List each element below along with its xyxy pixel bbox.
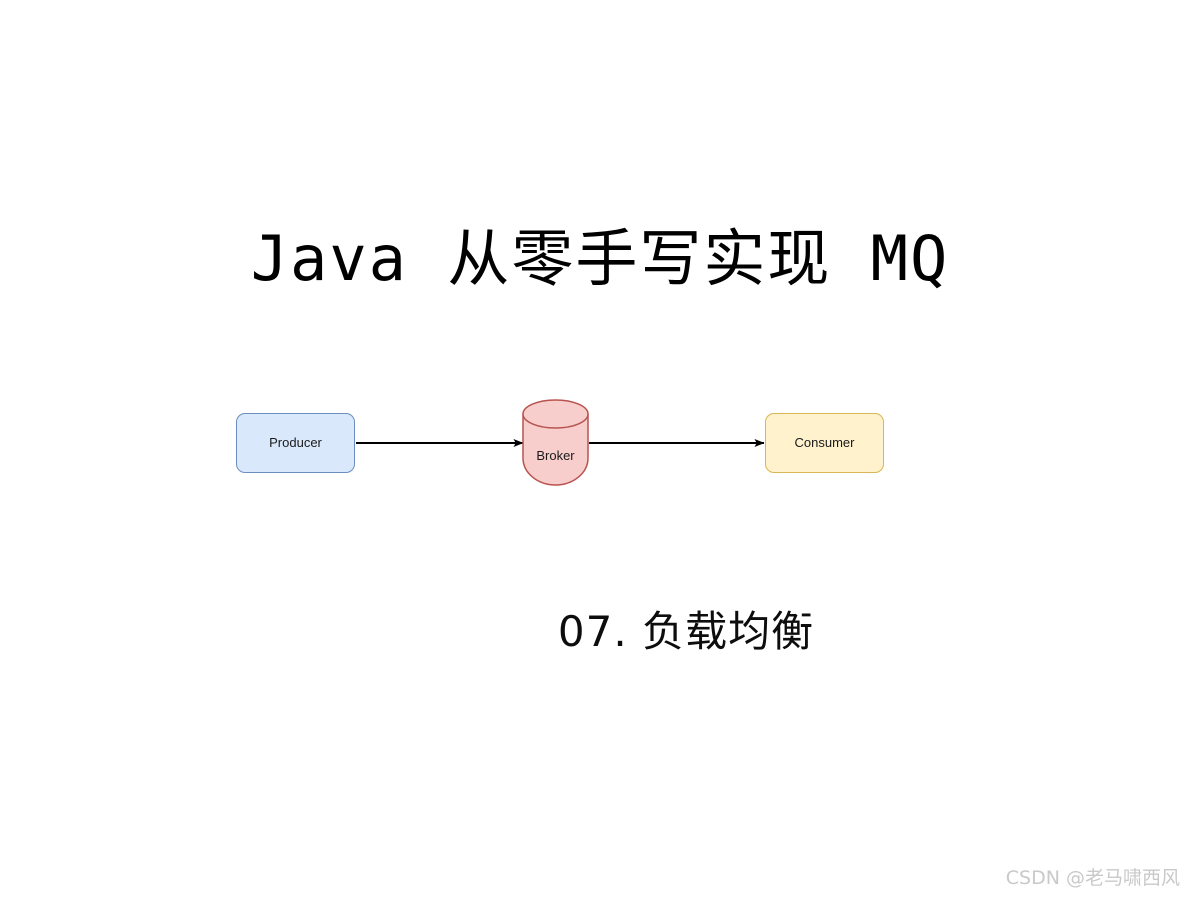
diagram-node-broker-label: Broker — [513, 448, 598, 464]
diagram-canvas — [0, 0, 1200, 900]
page-title: Java 从零手写实现 MQ — [0, 222, 1200, 296]
diagram-node-producer-label: Producer — [236, 435, 355, 451]
page-subtitle: 07. 负载均衡 — [0, 606, 1200, 658]
diagram-node-consumer-label: Consumer — [765, 435, 884, 451]
watermark: CSDN @老马啸西风 — [1006, 866, 1180, 890]
broker-cylinder-shape — [523, 400, 588, 485]
slide-canvas: Java 从零手写实现 MQ Producer Broker Consumer … — [0, 0, 1200, 900]
